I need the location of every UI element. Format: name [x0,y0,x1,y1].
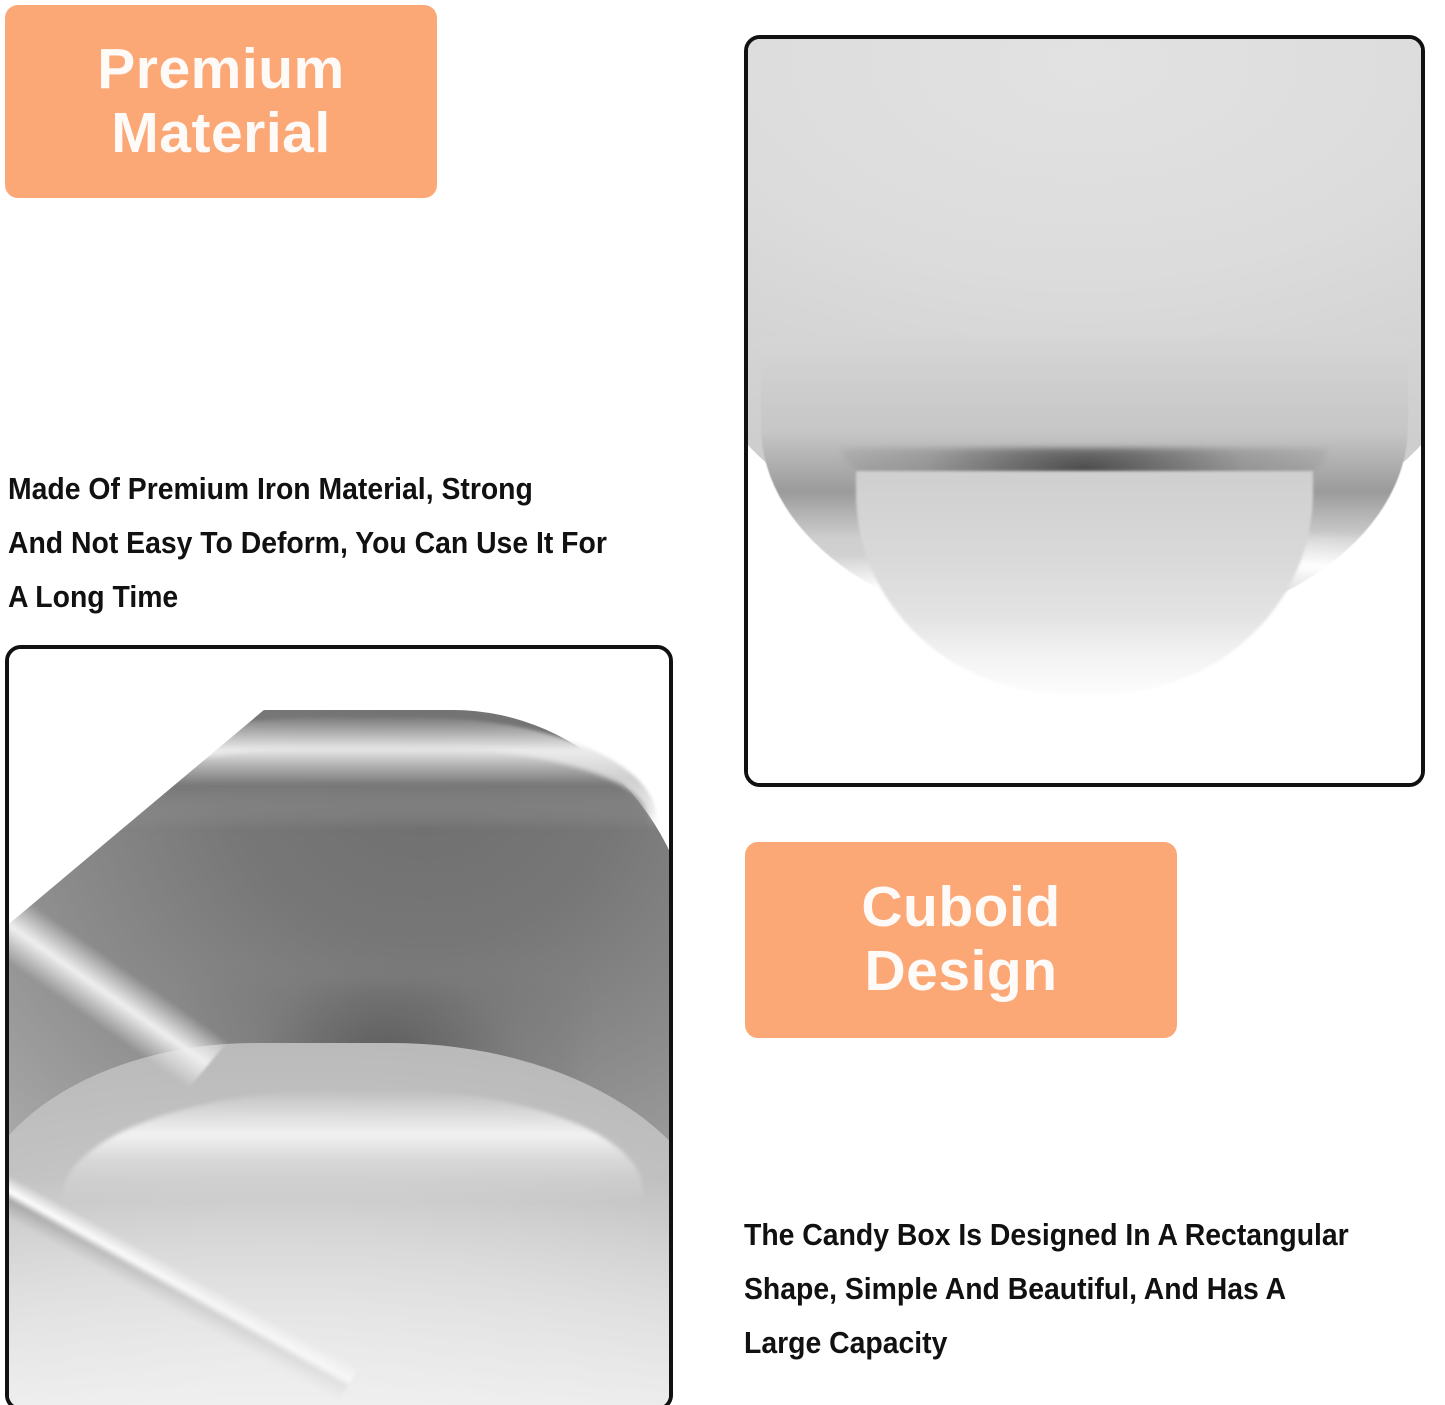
photo-bottom-fade [748,619,1421,783]
tin-bottom-sheen [9,1180,669,1405]
badge-cuboid-design: Cuboid Design [745,842,1177,1038]
badge-premium-line-1: Premium [97,38,344,102]
product-photo-lid-corner [744,35,1425,787]
description-premium-material: Made Of Premium Iron Material, Strong An… [8,462,715,624]
badge-premium-material: Premium Material [5,5,437,198]
description-premium-material-line-3: A Long Time [8,570,715,624]
badge-cuboid-line-1: Cuboid [861,876,1060,940]
description-cuboid-design-line-2: Shape, Simple And Beautiful, And Has A [744,1262,1445,1316]
badge-cuboid-line-2: Design [864,940,1057,1004]
product-photo-interior-corner-image [9,649,669,1405]
description-cuboid-design: The Candy Box Is Designed In A Rectangul… [744,1208,1445,1370]
product-photo-lid-corner-image [748,39,1421,783]
badge-premium-line-2: Material [111,102,330,166]
description-cuboid-design-line-3: Large Capacity [744,1316,1445,1370]
description-premium-material-line-2: And Not Easy To Deform, You Can Use It F… [8,516,715,570]
description-premium-material-line-1: Made Of Premium Iron Material, Strong [8,462,715,516]
product-photo-interior-corner [5,645,673,1405]
product-infographic: Premium Material Made Of Premium Iron Ma… [0,0,1445,1405]
description-cuboid-design-line-1: The Candy Box Is Designed In A Rectangul… [744,1208,1445,1262]
